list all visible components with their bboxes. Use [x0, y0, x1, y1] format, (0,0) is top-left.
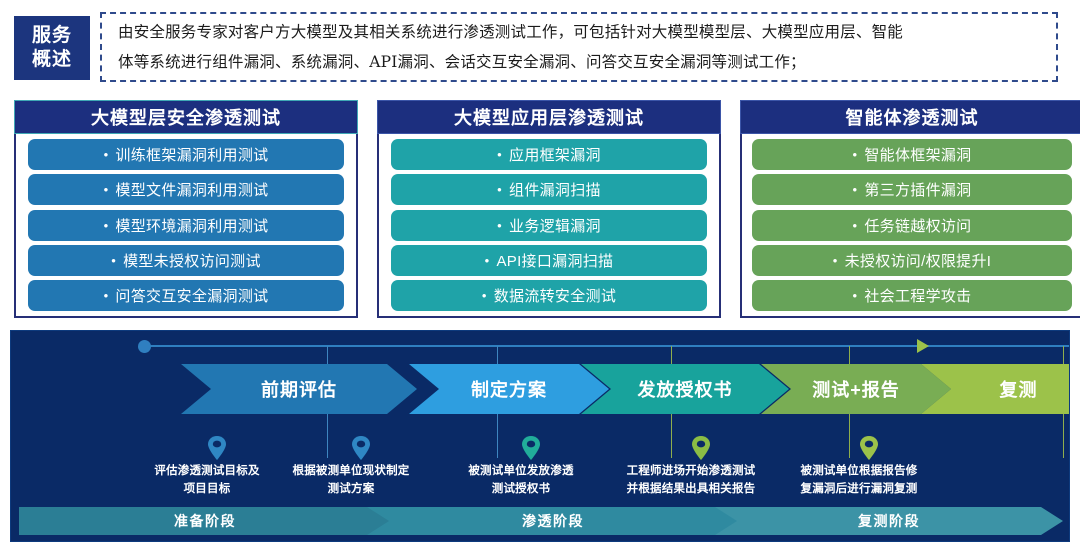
process-step-descriptions: 评估渗透测试目标及项目目标根据被测单位现状制定测试方案被测试单位发放渗透测试授权…: [11, 463, 1070, 509]
scope-item-label: 智能体框架漏洞: [864, 144, 971, 165]
phase-chevron[interactable]: 复测阶段: [715, 507, 1063, 535]
phase-chevron[interactable]: 准备阶段: [19, 507, 391, 535]
process-phase-bar: 准备阶段渗透阶段复测阶段: [19, 507, 1063, 535]
column-model-layer: 大模型层安全渗透测试 •训练框架漏洞利用测试 •模型文件漏洞利用测试 •模型环境…: [14, 100, 358, 318]
bullet-icon: •: [833, 254, 838, 267]
description-line-1: 被测试单位根据报告修: [769, 463, 949, 481]
scope-item-label: 应用框架漏洞: [509, 144, 601, 165]
summary-line-2: 体等系统进行组件漏洞、系统漏洞、API漏洞、会话交互安全漏洞、问答交互安全漏洞等…: [118, 47, 1042, 77]
process-step-label: 测试+报告: [812, 376, 900, 402]
footer-ghost-text: [120, 543, 680, 552]
bullet-icon: •: [485, 254, 490, 267]
phase-label: 渗透阶段: [522, 511, 584, 531]
scope-item-label: 模型文件漏洞利用测试: [115, 179, 268, 200]
badge-line-1: 服务: [32, 24, 72, 48]
description-line-2: 复漏洞后进行漏洞复测: [769, 481, 949, 499]
process-step-chevron[interactable]: 测试+报告: [761, 364, 951, 414]
scope-item[interactable]: •第三方插件漏洞: [752, 174, 1072, 205]
scope-item[interactable]: •任务链越权访问: [752, 210, 1072, 241]
process-step-label: 前期评估: [261, 376, 337, 402]
bullet-icon: •: [853, 289, 858, 302]
bullet-icon: •: [104, 148, 109, 161]
description-line-1: 工程师进场开始渗透测试: [601, 463, 781, 481]
timeline-arrow-icon: [917, 339, 929, 353]
process-step-label: 复测: [1000, 376, 1038, 402]
bullet-icon: •: [497, 148, 502, 161]
scope-item-label: 业务逻辑漏洞: [509, 215, 601, 236]
bullet-icon: •: [482, 289, 487, 302]
scope-item-label: 数据流转安全测试: [494, 285, 616, 306]
process-step-chevron[interactable]: 前期评估: [181, 364, 417, 414]
service-summary-badge: 服务 概述: [14, 16, 90, 80]
timeline-start-dot-icon: [138, 340, 151, 353]
scope-item-label: 任务链越权访问: [864, 215, 971, 236]
phase-label: 准备阶段: [174, 511, 236, 531]
process-step-description: 根据被测单位现状制定测试方案: [261, 463, 441, 499]
timeline-axis-line: [146, 345, 1070, 347]
phase-chevron[interactable]: 渗透阶段: [367, 507, 739, 535]
scope-item[interactable]: •训练框架漏洞利用测试: [28, 139, 344, 170]
bullet-icon: •: [104, 289, 109, 302]
process-step-description: 工程师进场开始渗透测试并根据结果出具相关报告: [601, 463, 781, 499]
process-step-chevrons: 前期评估制定方案发放授权书测试+报告复测: [11, 364, 1070, 414]
scope-item[interactable]: •社会工程学攻击: [752, 280, 1072, 311]
scope-item-label: 社会工程学攻击: [864, 285, 971, 306]
phase-label: 复测阶段: [858, 511, 920, 531]
bullet-icon: •: [111, 254, 116, 267]
bullet-icon: •: [497, 183, 502, 196]
process-step-description: 被测试单位发放渗透测试授权书: [431, 463, 611, 499]
process-timeline-panel: 前期评估制定方案发放授权书测试+报告复测 评估渗透测试目标及项目目标根据被测单位…: [10, 330, 1070, 542]
test-scope-columns: 大模型层安全渗透测试 •训练框架漏洞利用测试 •模型文件漏洞利用测试 •模型环境…: [0, 100, 1080, 318]
scope-item-label: 模型环境漏洞利用测试: [115, 215, 268, 236]
scope-item[interactable]: •智能体框架漏洞: [752, 139, 1072, 170]
column-items-model-layer: •训练框架漏洞利用测试 •模型文件漏洞利用测试 •模型环境漏洞利用测试 •模型未…: [14, 134, 358, 318]
column-items-app-layer: •应用框架漏洞 •组件漏洞扫描 •业务逻辑漏洞 •API接口漏洞扫描 •数据流转…: [377, 134, 721, 318]
process-step-pins: [11, 436, 1070, 466]
description-line-1: 根据被测单位现状制定: [261, 463, 441, 481]
service-summary-box: 由安全服务专家对客户方大模型及其相关系统进行渗透测试工作，可包括针对大模型模型层…: [100, 12, 1058, 82]
map-pin-icon: [859, 436, 879, 460]
scope-item[interactable]: •业务逻辑漏洞: [391, 210, 707, 241]
scope-item-label: 第三方插件漏洞: [864, 179, 971, 200]
column-items-agent: •智能体框架漏洞 •第三方插件漏洞 •任务链越权访问 •未授权访问/权限提升I …: [740, 134, 1080, 318]
map-pin-icon: [521, 436, 541, 460]
badge-line-2: 概述: [32, 48, 72, 72]
process-step-description: 被测试单位根据报告修复漏洞后进行漏洞复测: [769, 463, 949, 499]
column-agent: 智能体渗透测试 •智能体框架漏洞 •第三方插件漏洞 •任务链越权访问 •未授权访…: [740, 100, 1080, 318]
bullet-icon: •: [853, 148, 858, 161]
scope-item[interactable]: •问答交互安全漏洞测试: [28, 280, 344, 311]
service-summary-header: 服务 概述 由安全服务专家对客户方大模型及其相关系统进行渗透测试工作，可包括针对…: [0, 10, 1080, 88]
scope-item-label: 组件漏洞扫描: [509, 179, 601, 200]
bullet-icon: •: [497, 219, 502, 232]
description-line-1: 被测试单位发放渗透: [431, 463, 611, 481]
scope-item[interactable]: •组件漏洞扫描: [391, 174, 707, 205]
bullet-icon: •: [104, 219, 109, 232]
column-title-agent: 智能体渗透测试: [740, 100, 1080, 134]
scope-item[interactable]: •数据流转安全测试: [391, 280, 707, 311]
map-pin-icon: [207, 436, 227, 460]
scope-item-label: 训练框架漏洞利用测试: [115, 144, 268, 165]
bullet-icon: •: [104, 183, 109, 196]
scope-item[interactable]: •模型未授权访问测试: [28, 245, 344, 276]
scope-item[interactable]: •模型文件漏洞利用测试: [28, 174, 344, 205]
column-app-layer: 大模型应用层渗透测试 •应用框架漏洞 •组件漏洞扫描 •业务逻辑漏洞 •API接…: [377, 100, 721, 318]
scope-item-label: 问答交互安全漏洞测试: [115, 285, 268, 306]
map-pin-icon: [351, 436, 371, 460]
scope-item-label: 未授权访问/权限提升I: [845, 250, 992, 271]
bullet-icon: •: [853, 183, 858, 196]
column-title-app-layer: 大模型应用层渗透测试: [377, 100, 721, 134]
process-step-chevron[interactable]: 发放授权书: [581, 364, 789, 414]
scope-item-label: 模型未授权访问测试: [123, 250, 261, 271]
scope-item-label: API接口漏洞扫描: [496, 250, 613, 271]
bullet-icon: •: [853, 219, 858, 232]
service-overview-infographic: 服务 概述 由安全服务专家对客户方大模型及其相关系统进行渗透测试工作，可包括针对…: [0, 0, 1080, 550]
scope-item[interactable]: •未授权访问/权限提升I: [752, 245, 1072, 276]
process-step-chevron[interactable]: 制定方案: [409, 364, 609, 414]
process-step-label: 发放授权书: [638, 376, 733, 402]
scope-item[interactable]: •API接口漏洞扫描: [391, 245, 707, 276]
column-title-model-layer: 大模型层安全渗透测试: [14, 100, 358, 134]
description-line-2: 测试方案: [261, 481, 441, 499]
process-step-label: 制定方案: [471, 376, 547, 402]
map-pin-icon: [691, 436, 711, 460]
description-line-2: 测试授权书: [431, 481, 611, 499]
summary-line-1: 由安全服务专家对客户方大模型及其相关系统进行渗透测试工作，可包括针对大模型模型层…: [118, 17, 1042, 47]
description-line-2: 并根据结果出具相关报告: [601, 481, 781, 499]
scope-item[interactable]: •应用框架漏洞: [391, 139, 707, 170]
scope-item[interactable]: •模型环境漏洞利用测试: [28, 210, 344, 241]
